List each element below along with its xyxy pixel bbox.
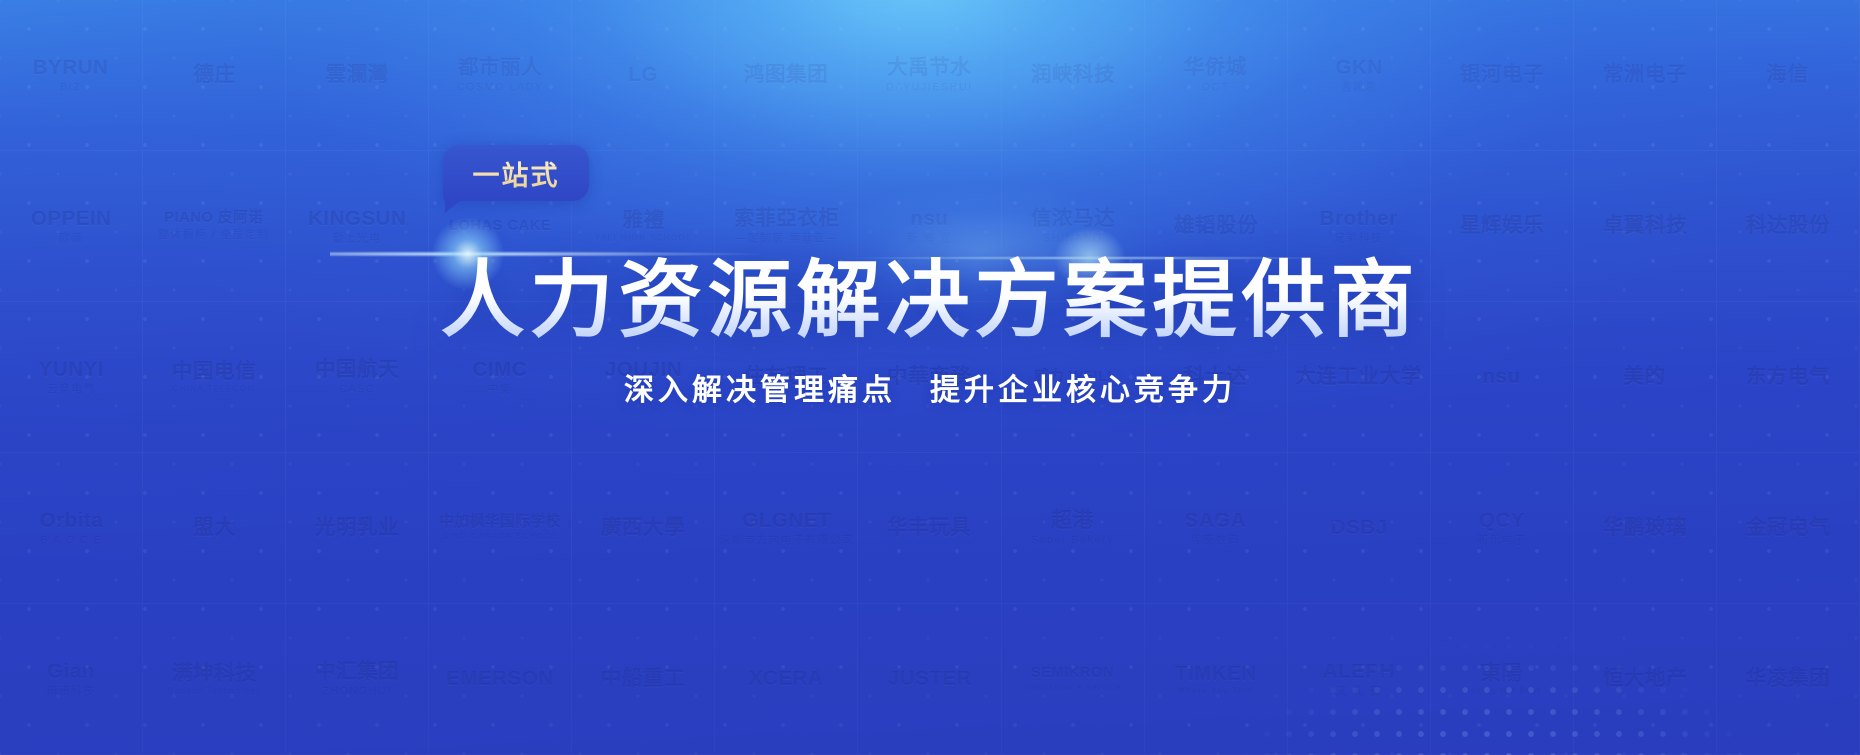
hero-banner: BYRUNBIZ德庄雲瀾灣都市丽人COSMO LADYLG鸿图集团大禹节水DAY…	[0, 0, 1860, 755]
one-stop-badge: 一站式	[443, 145, 589, 201]
page-title: 人力资源解决方案提供商	[0, 256, 1860, 345]
one-stop-badge-label: 一站式	[473, 154, 560, 193]
hero-content: 一站式 人力资源解决方案提供商 深入解决管理痛点 提升企业核心竞争力	[0, 0, 1860, 755]
page-subtitle: 深入解决管理痛点 提升企业核心竞争力	[0, 365, 1860, 409]
